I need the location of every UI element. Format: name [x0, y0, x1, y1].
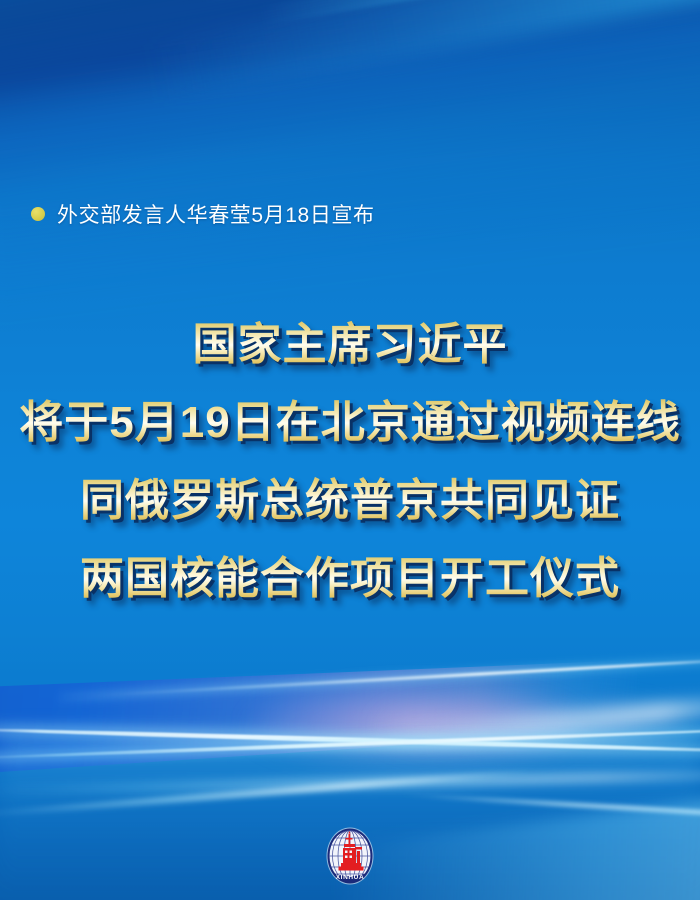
- poster-canvas: 外交部发言人华春莹5月18日宣布 国家主席习近平 将于5月19日在北京通过视频连…: [0, 0, 700, 900]
- headline-line-2: 将于5月19日在北京通过视频连线: [0, 384, 700, 462]
- light-streak-secondary: [258, 0, 700, 26]
- wave-ribbon-lower: [0, 726, 700, 762]
- bullet-dot-icon: [31, 207, 45, 221]
- top-dark-band: [0, 0, 700, 203]
- headline-line-3: 同俄罗斯总统普京共同见证: [0, 462, 700, 540]
- bottom-right-diagonal: [332, 795, 700, 900]
- headline-line-1: 国家主席习近平: [0, 306, 700, 384]
- light-streak-primary: [197, 0, 700, 2]
- subtitle-text: 外交部发言人华春莹5月18日宣布: [57, 199, 375, 229]
- headline-block: 国家主席习近平 将于5月19日在北京通过视频连线 同俄罗斯总统普京共同见证 两国…: [0, 306, 700, 618]
- wave-pink-glow: [250, 688, 580, 764]
- wave-ribbon-soft: [0, 769, 700, 796]
- logo-wordmark: XINHUA: [336, 874, 365, 881]
- wave-pink-glow-secondary: [380, 702, 680, 752]
- wave-ribbon-bottom-right: [400, 792, 700, 820]
- wave-ribbon-bottom-left: [0, 769, 529, 818]
- wave-ribbon-main: [0, 726, 700, 754]
- announcement-subtitle: 外交部发言人华春莹5月18日宣布: [31, 199, 375, 229]
- top-sheen: [0, 12, 700, 319]
- light-streak-broad: [145, 0, 700, 103]
- wave-wedge: [0, 660, 640, 780]
- wave-ribbon-arc: [329, 692, 700, 758]
- headline-line-4: 两国核能合作项目开工仪式: [0, 540, 700, 618]
- xinhua-logo: XINHUA: [322, 825, 378, 887]
- wave-ribbon-upper: [60, 657, 700, 699]
